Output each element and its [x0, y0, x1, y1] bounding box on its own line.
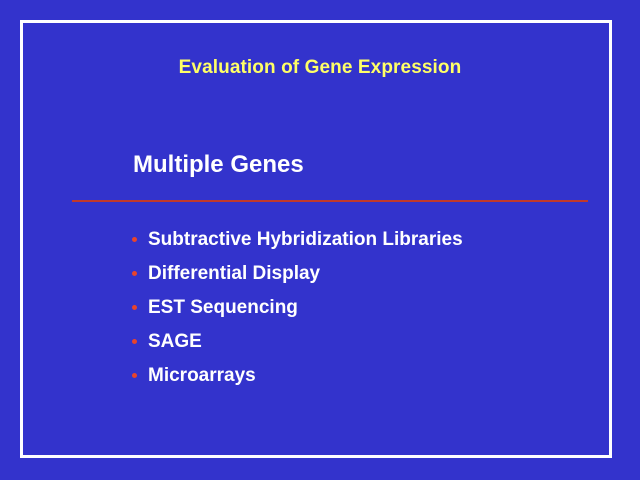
bullet-dot-icon: [132, 237, 137, 242]
presentation-slide: Evaluation of Gene Expression Multiple G…: [0, 0, 640, 480]
list-item-label: Subtractive Hybridization Libraries: [148, 229, 463, 251]
list-item-label: EST Sequencing: [148, 297, 298, 319]
list-item-label: Microarrays: [148, 365, 256, 387]
bullet-dot-icon: [132, 373, 137, 378]
bullet-list: Subtractive Hybridization Libraries Diff…: [130, 229, 600, 399]
list-item: SAGE: [130, 331, 600, 365]
list-item-label: SAGE: [148, 331, 202, 353]
slide-title: Evaluation of Gene Expression: [0, 57, 640, 79]
list-item-label: Differential Display: [148, 263, 320, 285]
bullet-dot-icon: [132, 271, 137, 276]
bullet-dot-icon: [132, 339, 137, 344]
list-item: EST Sequencing: [130, 297, 600, 331]
slide-subtitle: Multiple Genes: [133, 151, 304, 179]
bullet-dot-icon: [132, 305, 137, 310]
list-item: Differential Display: [130, 263, 600, 297]
list-item: Subtractive Hybridization Libraries: [130, 229, 600, 263]
list-item: Microarrays: [130, 365, 600, 399]
horizontal-divider: [72, 200, 588, 202]
